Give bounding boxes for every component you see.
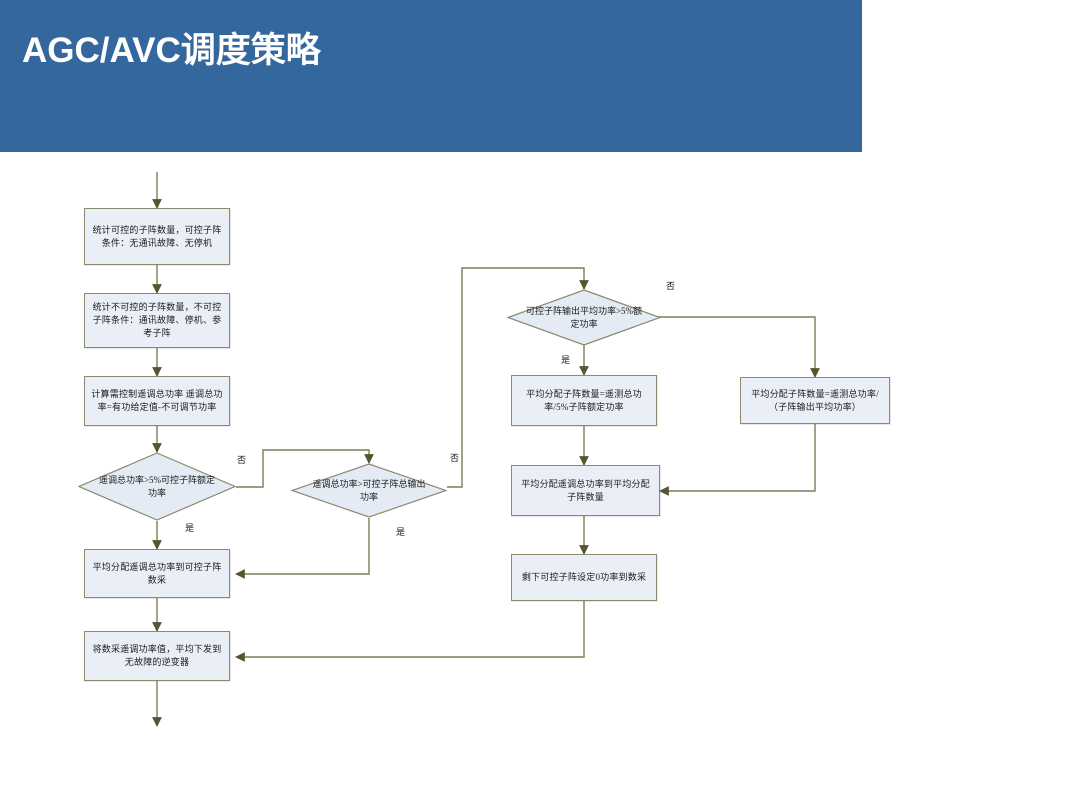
edge-label-d3-no: 否	[666, 281, 675, 292]
flow-node-dispatch-to-inverters: 将数采遥调功率值，平均下发到无故障的逆变器	[84, 631, 230, 681]
flow-node-text: 计算需控制遥调总功率 遥调总功率=有功给定值-不可调节功率	[90, 388, 224, 414]
flow-decision-total-gt-5pct: 遥调总功率>5%可控子阵额定功率	[78, 452, 236, 521]
flow-decision-text: 遥调总功率>5%可控子阵额定功率	[78, 452, 236, 521]
flow-node-text: 平均分配子阵数量=遥测总功率/5%子阵额定功率	[517, 388, 651, 414]
flow-node-count-controllable: 统计可控的子阵数量，可控子阵条件：无通讯故障、无停机	[84, 208, 230, 265]
flow-decision-avg-output-gt-5pct: 可控子阵输出平均功率>5%额定功率	[507, 289, 661, 346]
flow-node-count-uncontrollable: 统计不可控的子阵数量，不可控子阵条件：通讯故障、停机、参考子阵	[84, 293, 230, 348]
flow-node-distribute-to-avg-count: 平均分配遥调总功率到平均分配子阵数量	[511, 465, 660, 516]
flow-node-text: 将数采遥调功率值，平均下发到无故障的逆变器	[90, 643, 224, 669]
flow-node-text: 平均分配子阵数量=遥测总功率/（子阵输出平均功率）	[746, 388, 884, 414]
flow-node-count-by-5pct-rated: 平均分配子阵数量=遥测总功率/5%子阵额定功率	[511, 375, 657, 426]
edge-label-d2-yes: 是	[396, 527, 405, 538]
flow-node-text: 剩下可控子阵设定0功率到数采	[522, 571, 646, 584]
edge-label-d1-yes: 是	[185, 523, 194, 534]
edge-label-d2-no: 否	[450, 453, 459, 464]
flow-node-calc-total-power: 计算需控制遥调总功率 遥调总功率=有功给定值-不可调节功率	[84, 376, 230, 426]
flow-node-remaining-set-zero: 剩下可控子阵设定0功率到数采	[511, 554, 657, 601]
flow-node-count-by-avg-output: 平均分配子阵数量=遥测总功率/（子阵输出平均功率）	[740, 377, 890, 424]
flow-decision-text: 可控子阵输出平均功率>5%额定功率	[507, 289, 661, 346]
flow-node-text: 平均分配遥调总功率到平均分配子阵数量	[517, 478, 654, 504]
slide-canvas: AGC/AVC调度策略	[0, 0, 1080, 810]
flow-decision-text: 遥调总功率>可控子阵总输出功率	[291, 463, 447, 518]
edge-label-d1-no: 否	[237, 455, 246, 466]
edge-label-d3-yes: 是	[561, 355, 570, 366]
flow-node-text: 统计不可控的子阵数量，不可控子阵条件：通讯故障、停机、参考子阵	[90, 301, 224, 340]
flow-node-text: 平均分配遥调总功率到可控子阵数采	[90, 561, 224, 587]
flow-node-distribute-to-controllable: 平均分配遥调总功率到可控子阵数采	[84, 549, 230, 598]
flowchart: 统计可控的子阵数量，可控子阵条件：无通讯故障、无停机 统计不可控的子阵数量，不可…	[0, 0, 1080, 810]
flow-node-text: 统计可控的子阵数量，可控子阵条件：无通讯故障、无停机	[90, 224, 224, 250]
flow-decision-total-gt-output: 遥调总功率>可控子阵总输出功率	[291, 463, 447, 518]
